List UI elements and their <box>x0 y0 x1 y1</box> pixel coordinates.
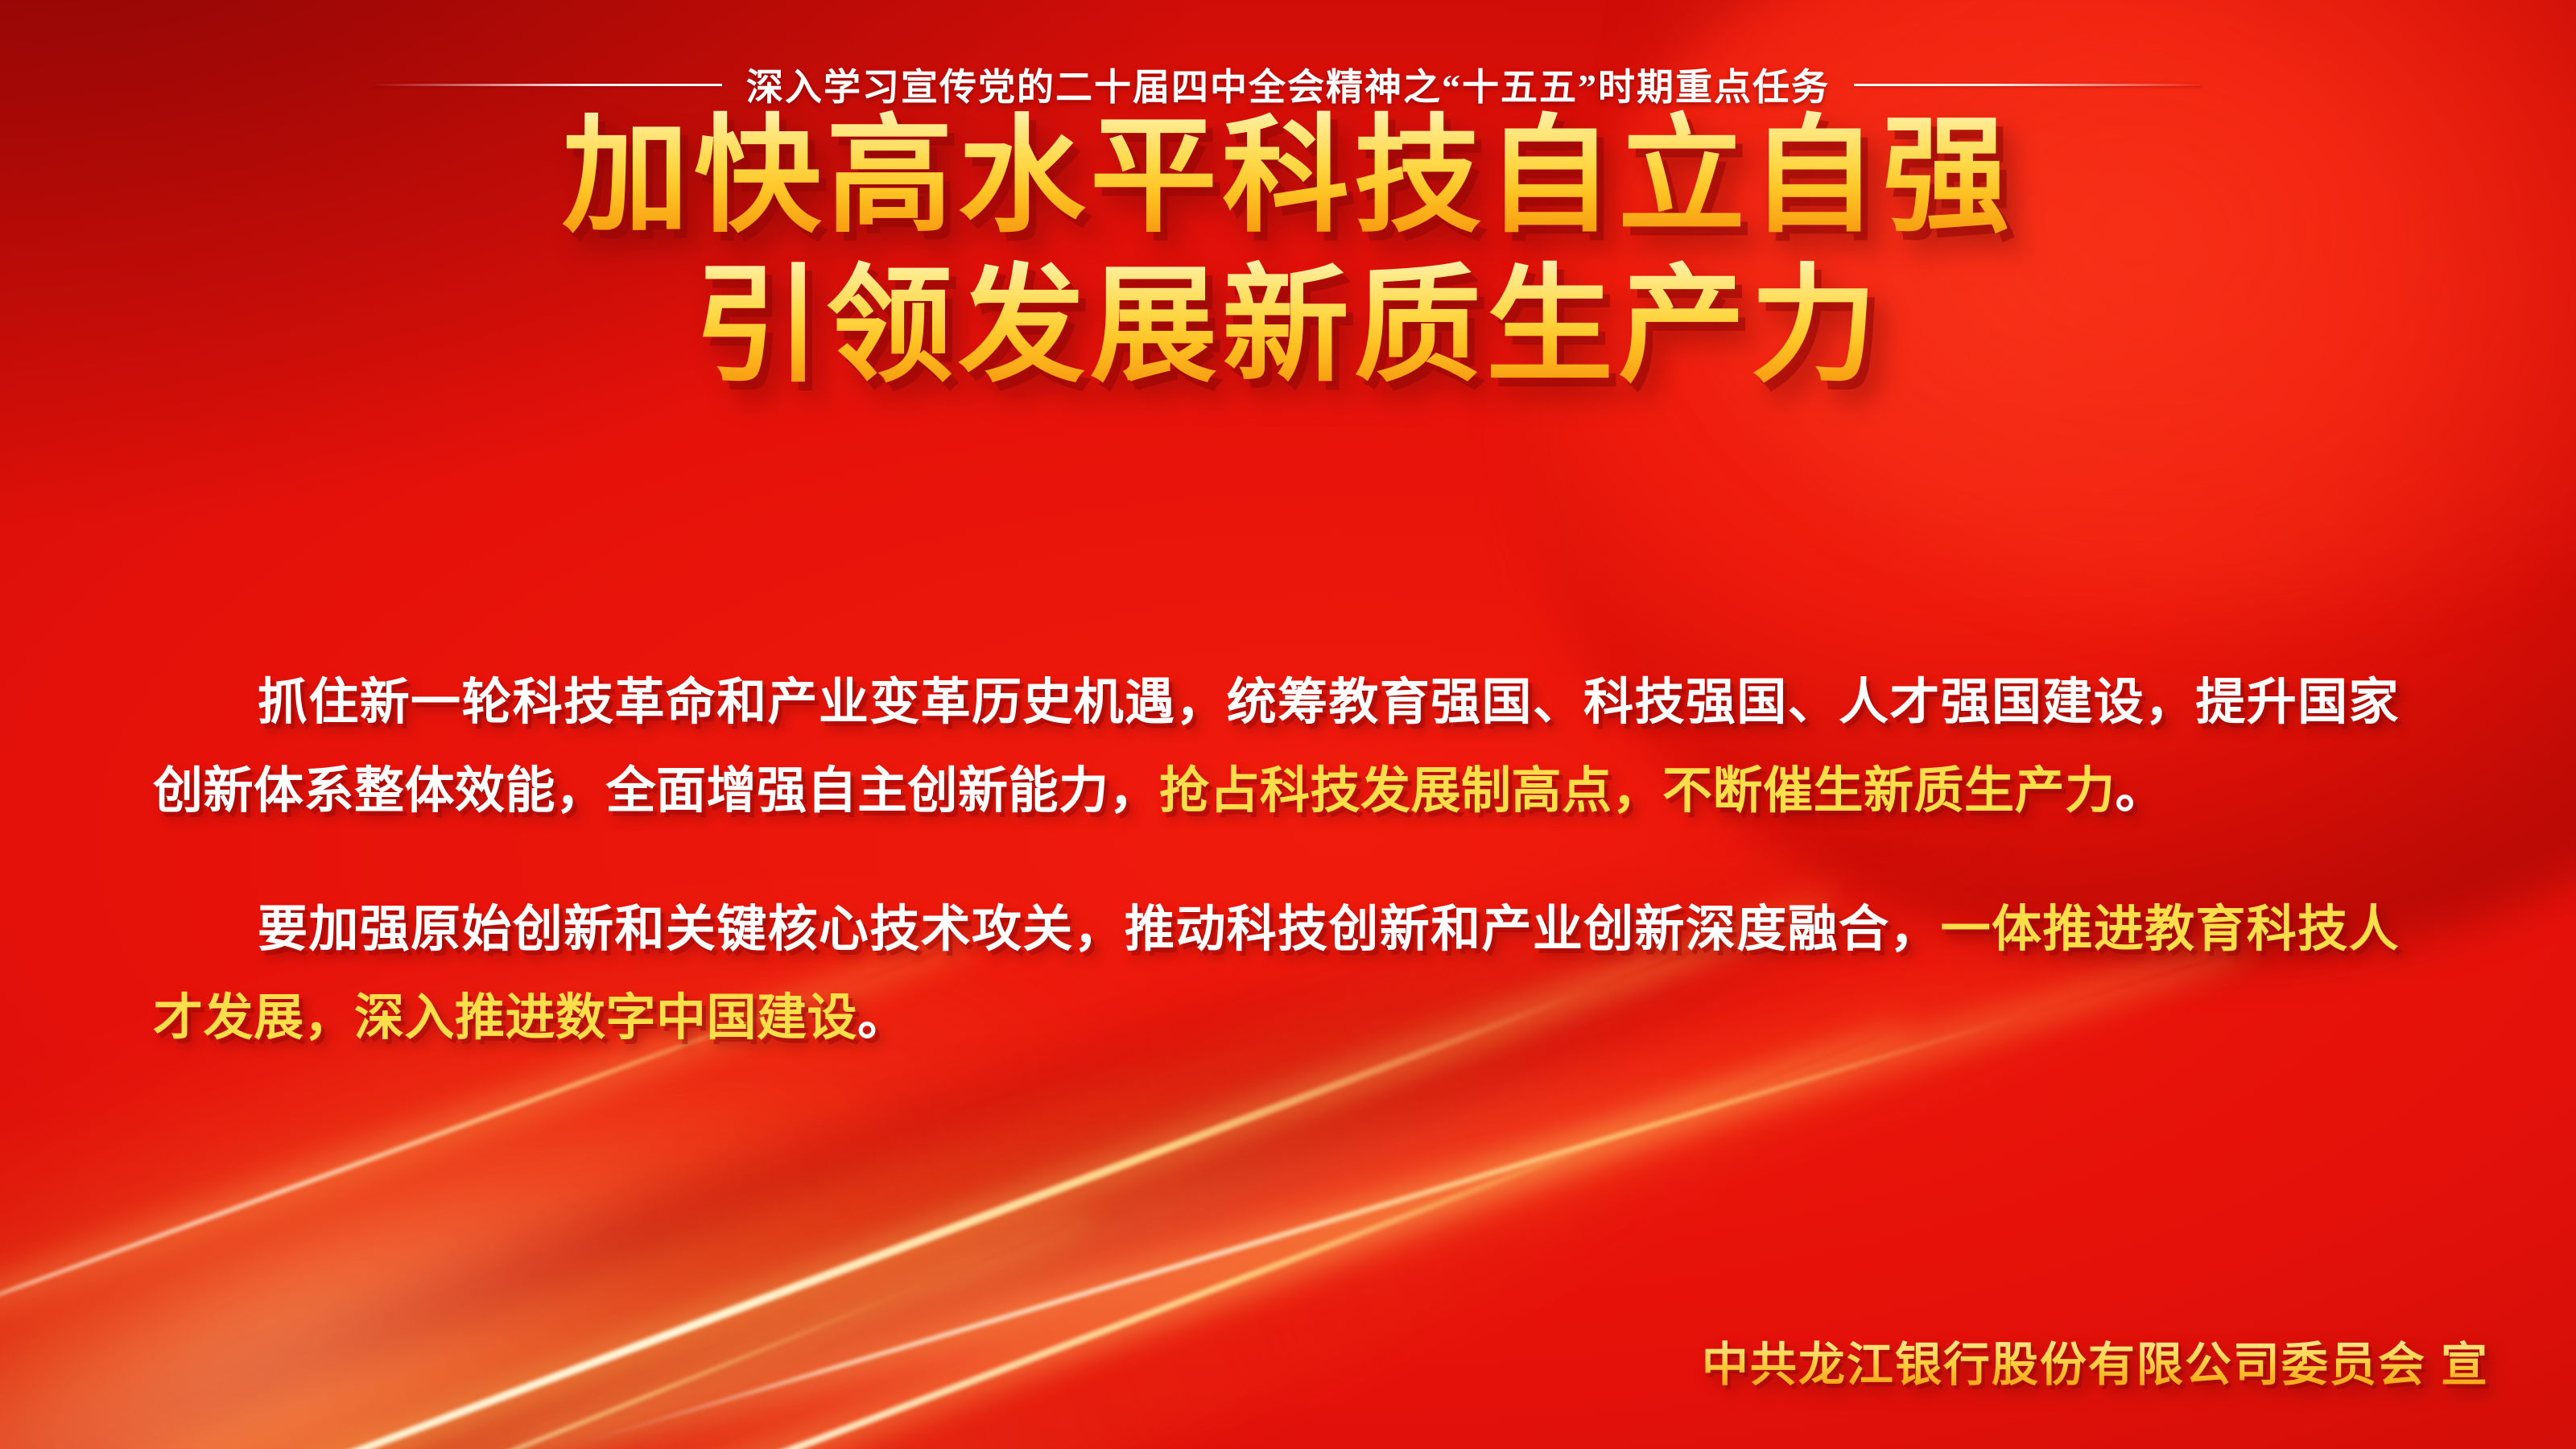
headline-line-2: 引领发展新质生产力 <box>0 251 2576 401</box>
body-text-run: 。 <box>2116 763 2166 819</box>
organization-signature: 中共龙江银行股份有限公司委员会 宣 <box>1702 1327 2489 1394</box>
headline-line-1: 加快高水平科技自立自强 <box>0 101 2576 251</box>
body-text-highlight: 抢占科技发展制高点，不断催生新质生产力 <box>1159 763 2116 819</box>
body-text-block: 抓住新一轮科技革命和产业变革历史机遇，统筹教育强国、科技强国、人才强国建设，提升… <box>153 609 2399 1113</box>
eyebrow-rule-left-icon <box>374 84 722 86</box>
body-paragraph-1: 抓住新一轮科技革命和产业变革历史机遇，统筹教育强国、科技强国、人才强国建设，提升… <box>153 658 2399 836</box>
body-text-run: 。 <box>857 990 908 1046</box>
propaganda-poster: 深入学习宣传党的二十届四中全会精神之“十五五”时期重点任务 加快高水平科技自立自… <box>0 0 2576 1449</box>
page-title: 加快高水平科技自立自强 引领发展新质生产力 <box>0 101 2576 402</box>
body-paragraph-2: 要加强原始创新和关键核心技术攻关，推动科技创新和产业创新深度融合，一体推进教育科… <box>153 885 2399 1063</box>
body-text-run: 要加强原始创新和关键核心技术攻关，推动科技创新和产业创新深度融合， <box>258 902 1941 957</box>
eyebrow-rule-right-icon <box>1854 84 2202 86</box>
